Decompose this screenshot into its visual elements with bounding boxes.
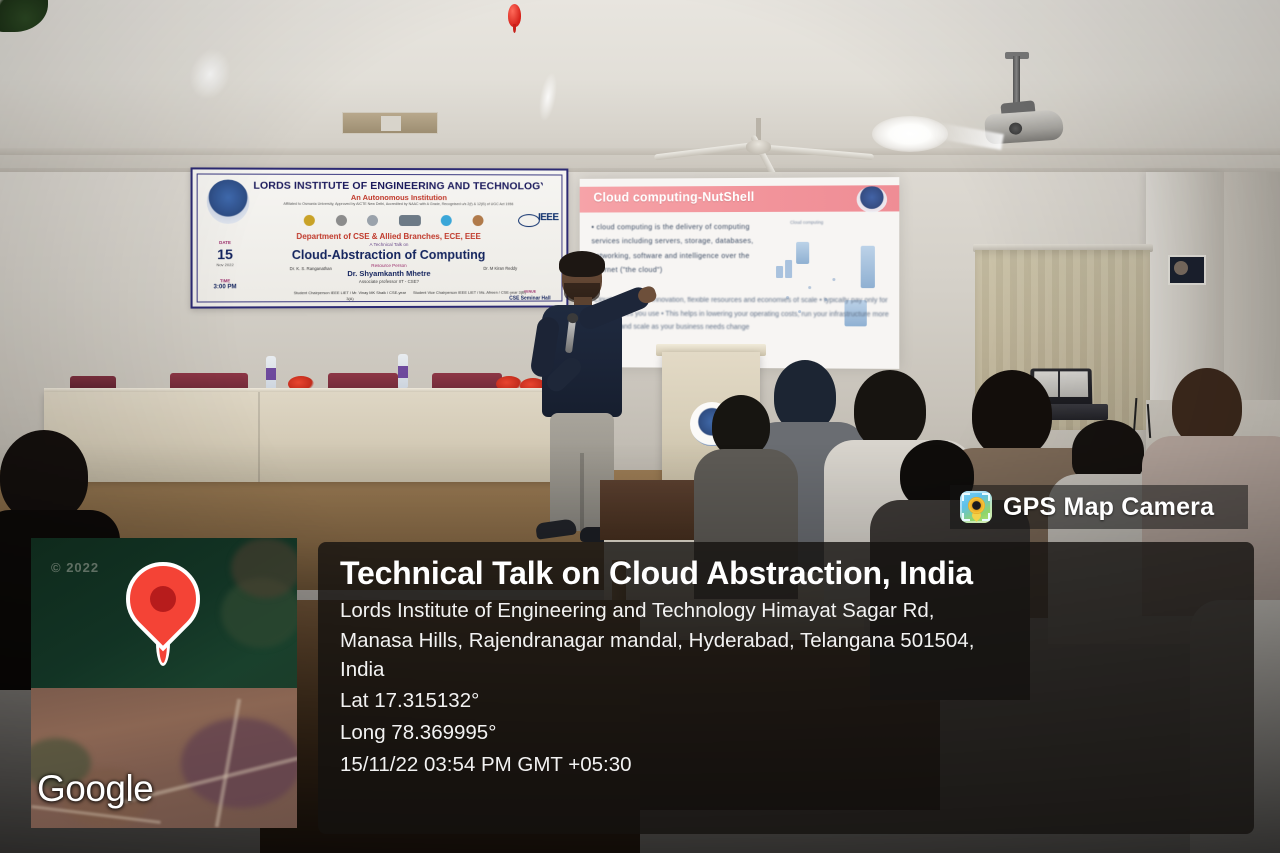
presenter-leg-split [580,453,584,531]
banner-time-label: TIME [203,278,248,283]
banner-autonomous-label: An Autonomous Institution [253,193,542,203]
fan-hub [746,140,771,154]
banner-accreditation-icons [304,214,484,227]
dais-table [44,392,582,482]
audience-head [854,370,926,450]
red-balloon-icon [508,4,521,27]
ceiling-fan [700,118,820,168]
audience-head [1172,368,1242,446]
ceiling-smudge [183,43,237,105]
banner-patron: Dr. K. S. Ranganathan [255,266,366,272]
lords-college-logo-icon [857,186,887,212]
banner-department: Department of CSE & Allied Branches, ECE… [233,232,543,241]
diagram-dot [808,286,811,289]
banner-event-kind: A Technical Talk on [233,242,543,247]
diagram-bar [785,260,792,278]
slide-title: Cloud computing-NutShell [593,190,754,205]
icon-corner [962,513,970,521]
banner-date-day: 15 [203,246,248,262]
map-pin-icon [126,562,200,670]
accreditation-icon [399,215,421,226]
ceiling-smudge [536,71,560,123]
ceiling-seam [0,148,1280,155]
address-line-1: Lords Institute of Engineering and Techn… [340,596,1234,626]
banner-resource-designation: Associate professor IIT - CSE? [233,279,543,285]
projector-lens-icon [1009,122,1023,135]
ceiling-vent [342,112,438,134]
screenshot-root: LORDS INSTITUTE OF ENGINEERING AND TECHN… [0,0,1280,853]
banner-time-value: 3:00 PM [203,284,248,290]
lords-college-logo-icon [207,180,250,224]
banner-date-label: DATE [203,240,248,245]
slide-graphic-caption: Cloud computing [790,220,823,225]
pin-center-dot [150,586,176,612]
ceiling-projector [985,56,1095,131]
dais-seam [258,392,260,482]
camera-lens-icon [968,497,985,514]
audience-head [0,430,88,522]
timestamp-value: 15/11/22 03:54 PM GMT +05:30 [340,749,1234,781]
accreditation-icon [473,215,484,226]
map-copyright: © 2022 [51,560,99,575]
banner-event-title: Cloud-Abstraction of Computing [233,248,543,262]
projector-pole [1013,56,1020,108]
accreditation-icon [336,215,347,226]
presenter-shoe [535,518,577,539]
event-banner: LORDS INSTITUTE OF ENGINEERING AND TECHN… [191,167,569,308]
accreditation-icon [304,215,315,226]
diagram-dot [832,278,835,281]
map-thumbnail[interactable]: © 2022 Google [31,538,297,828]
banner-footer-left: Student Chairperson IEEE LIET / Mr. Vina… [290,290,410,302]
presenter-hair [559,251,605,277]
banner-accreditation: Affiliated to Osmania University, Approv… [274,202,523,207]
water-bottle [266,356,276,390]
ieee-logo-icon: IEEE [538,212,558,223]
diagram-server [861,246,875,288]
latitude-value: Lat 17.315132° [340,685,1234,717]
location-title: Technical Talk on Cloud Abstraction, Ind… [340,556,1234,592]
icon-corner [982,513,990,521]
accreditation-icon [367,215,378,226]
diagram-server [796,242,809,264]
water-bottle [398,354,408,388]
address-line-2: Manasa Hills, Rajendranagar mandal, Hyde… [340,626,1234,656]
accreditation-icon [441,215,452,226]
audience-head [1072,420,1144,482]
wall-framed-photo [1168,255,1206,285]
gps-app-label: GPS Map Camera [1003,493,1214,522]
gps-info-panel: Technical Talk on Cloud Abstraction, Ind… [318,542,1254,834]
gps-map-camera-badge: GPS Map Camera [950,485,1248,529]
banner-date-rest: Nov 2022 [203,262,248,267]
google-watermark: Google [37,768,153,810]
longitude-value: Long 78.369995° [340,717,1234,749]
banner-institute-name: LORDS INSTITUTE OF ENGINEERING AND TECHN… [253,180,542,193]
map-blotch [231,538,297,598]
address-line-3: India [340,655,1234,685]
gps-map-camera-icon [960,491,992,523]
audience-head [712,395,770,457]
diagram-bar [776,266,783,278]
